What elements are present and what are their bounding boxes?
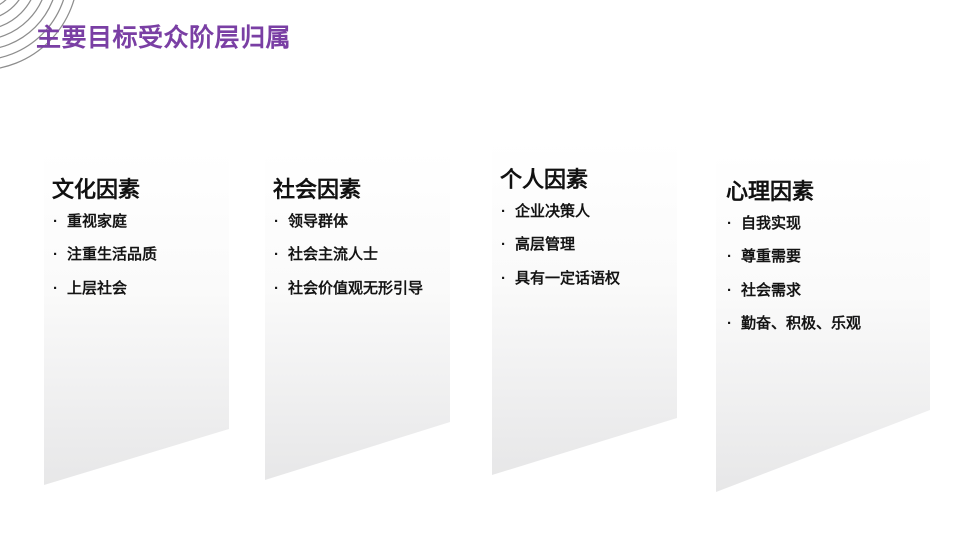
list-item: · 社会主流人士 <box>273 245 463 264</box>
list-item-label: 勤奋、积极、乐观 <box>741 315 861 332</box>
bullet-dot-icon: · <box>727 281 732 300</box>
bullet-dot-icon: · <box>727 314 732 333</box>
list-item: · 勤奋、积极、乐观 <box>726 314 926 333</box>
list-item-label: 尊重需要 <box>741 248 801 265</box>
list-item-label: 高层管理 <box>515 236 575 253</box>
list-item: · 社会价值观无形引导 <box>273 279 463 298</box>
list-item-label: 企业决策人 <box>515 203 590 220</box>
column-content: 文化因素 · 重视家庭 · 注重生活品质 · 上层社会 <box>52 178 232 298</box>
factor-column-personal: 个人因素 · 企业决策人 · 高层管理 · 具有一定话语权 <box>492 140 677 475</box>
title-block: 主要目标受众阶层归属 <box>36 16 291 60</box>
list-item-label: 重视家庭 <box>67 213 127 230</box>
list-item-label: 领导群体 <box>288 213 348 230</box>
bullet-dot-icon: · <box>53 245 58 264</box>
bullet-dot-icon: · <box>501 202 506 221</box>
column-heading: 社会因素 <box>273 178 463 202</box>
list-item: · 尊重需要 <box>726 247 926 266</box>
bullet-list: · 重视家庭 · 注重生活品质 · 上层社会 <box>52 212 232 298</box>
bullet-dot-icon: · <box>501 269 506 288</box>
list-item: · 重视家庭 <box>52 212 232 231</box>
factor-column-social: 社会因素 · 领导群体 · 社会主流人士 · 社会价值观无形引导 <box>265 150 450 480</box>
bullet-dot-icon: · <box>727 214 732 233</box>
list-item-label: 上层社会 <box>67 280 127 297</box>
list-item-label: 具有一定话语权 <box>515 270 620 287</box>
list-item-label: 注重生活品质 <box>67 246 157 263</box>
column-content: 心理因素 · 自我实现 · 尊重需要 · 社会需求 · 勤奋、积极、乐观 <box>726 180 926 333</box>
list-item: · 注重生活品质 <box>52 245 232 264</box>
list-item: · 社会需求 <box>726 281 926 300</box>
bullet-dot-icon: · <box>53 279 58 298</box>
list-item: · 企业决策人 <box>500 202 685 221</box>
list-item-label: 社会价值观无形引导 <box>288 280 423 297</box>
bullet-list: · 领导群体 · 社会主流人士 · 社会价值观无形引导 <box>273 212 463 298</box>
bullet-dot-icon: · <box>501 235 506 254</box>
list-item: · 上层社会 <box>52 279 232 298</box>
list-item: · 具有一定话语权 <box>500 269 685 288</box>
column-content: 个人因素 · 企业决策人 · 高层管理 · 具有一定话语权 <box>500 168 685 288</box>
bullet-list: · 自我实现 · 尊重需要 · 社会需求 · 勤奋、积极、乐观 <box>726 214 926 333</box>
column-heading: 心理因素 <box>726 180 926 204</box>
list-item-label: 自我实现 <box>741 215 801 232</box>
bullet-dot-icon: · <box>53 212 58 231</box>
list-item: · 高层管理 <box>500 235 685 254</box>
factor-column-cultural: 文化因素 · 重视家庭 · 注重生活品质 · 上层社会 <box>44 150 229 485</box>
slide-canvas: 主要目标受众阶层归属 文化因素 · 重视家庭 · <box>0 0 960 540</box>
list-item-label: 社会主流人士 <box>288 246 378 263</box>
bullet-dot-icon: · <box>274 212 279 231</box>
list-item: · 领导群体 <box>273 212 463 231</box>
column-heading: 个人因素 <box>500 168 685 192</box>
column-content: 社会因素 · 领导群体 · 社会主流人士 · 社会价值观无形引导 <box>273 178 463 298</box>
list-item-label: 社会需求 <box>741 282 801 299</box>
page-title: 主要目标受众阶层归属 <box>36 26 291 51</box>
bullet-dot-icon: · <box>274 279 279 298</box>
list-item: · 自我实现 <box>726 214 926 233</box>
factor-column-psychological: 心理因素 · 自我实现 · 尊重需要 · 社会需求 · 勤奋、积极、乐观 <box>716 152 930 492</box>
bullet-dot-icon: · <box>274 245 279 264</box>
bullet-dot-icon: · <box>727 247 732 266</box>
column-heading: 文化因素 <box>52 178 232 202</box>
bullet-list: · 企业决策人 · 高层管理 · 具有一定话语权 <box>500 202 685 288</box>
